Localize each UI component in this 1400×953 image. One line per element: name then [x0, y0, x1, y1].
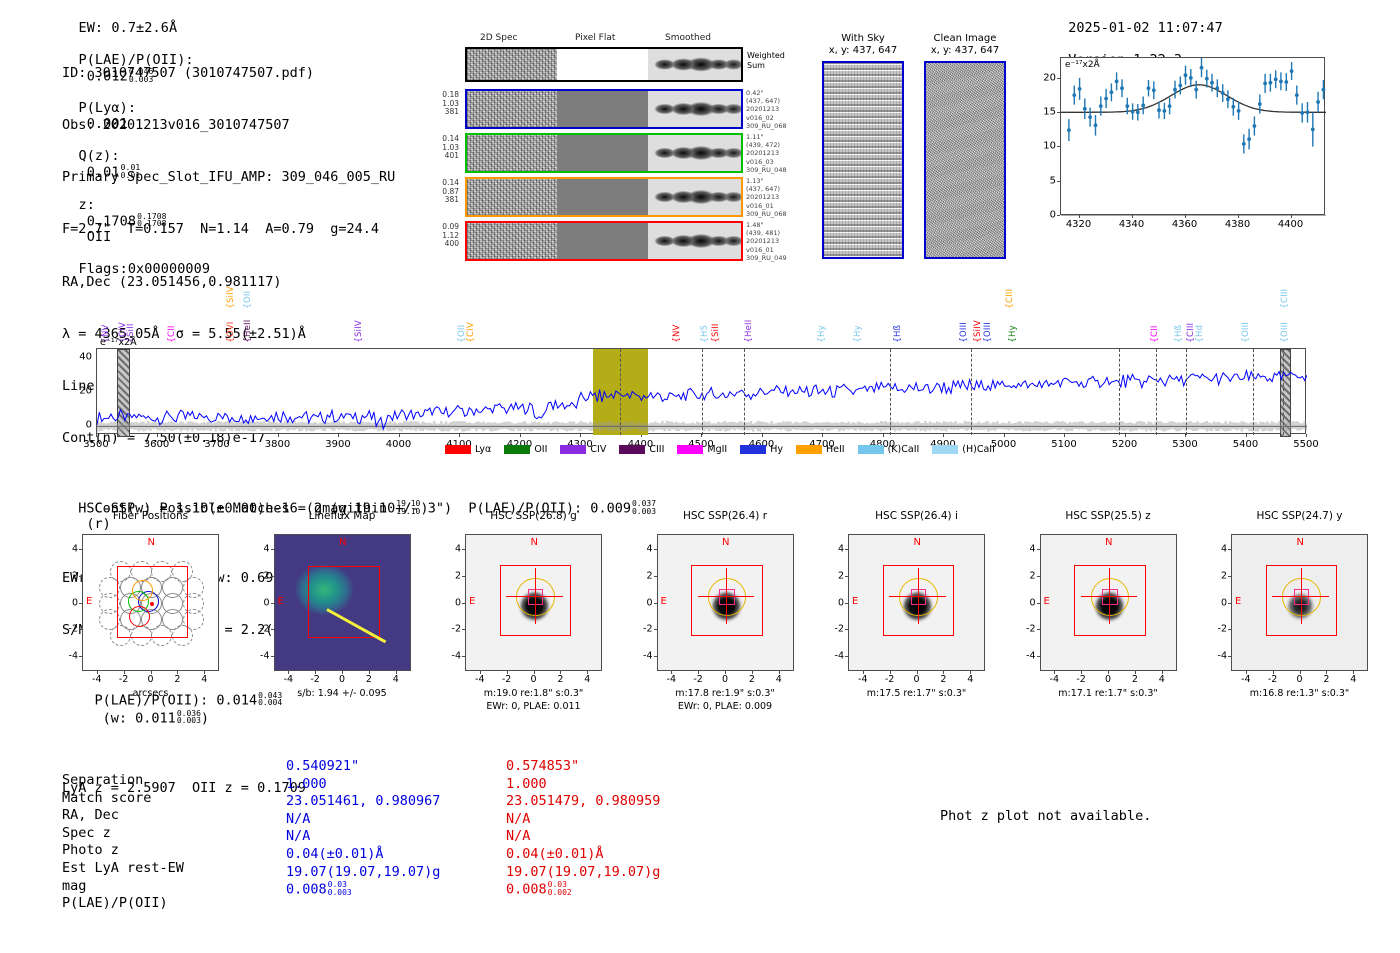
match-table-value-red: N/A	[506, 828, 530, 846]
cutout-xtickmark	[1135, 671, 1136, 674]
match-table-value-blue: N/A	[286, 811, 310, 829]
cutout-xtick: -2	[119, 674, 128, 685]
spectrum-line-label: CIV	[466, 293, 476, 337]
info-primary-spec: Primary Spec_Slot_IFU_AMP: 309_046_005_R…	[62, 169, 428, 186]
photz-note: Phot z plot not available.	[940, 808, 1151, 824]
spectrum-line-marker-dash	[1283, 349, 1284, 435]
spec2d-title-smoothed: Smoothed	[665, 33, 711, 43]
spectrum-line-label: SiIV	[354, 293, 364, 337]
info-id: ID: 3010747507 (3010747507.pdf)	[62, 65, 428, 82]
spectrum-line-label: SiIV	[226, 259, 236, 303]
spectrum-line-marker-dash	[1186, 349, 1187, 435]
cutout-xtickmark	[369, 671, 370, 674]
cutout-ytickmark	[462, 549, 465, 550]
legend-entry: HeII	[796, 444, 845, 455]
spectrum-line-marker-dash	[702, 349, 703, 435]
full-spectrum-axes: e⁻¹⁷x2Å	[96, 348, 1306, 434]
match-table-label: Est LyA rest-EW	[62, 860, 184, 878]
legend-label: OII	[534, 444, 547, 455]
cutout-ytickmark	[271, 576, 274, 577]
spectrum-line-brace: {	[1174, 337, 1184, 343]
spectrum-line-label: OIII	[1241, 293, 1251, 337]
cutout-xtick: -2	[1268, 674, 1277, 685]
line-fit-ytickmark	[1057, 146, 1060, 147]
spectrum-line-label: CII	[167, 293, 177, 337]
cutout-axes: NE	[1231, 534, 1368, 671]
cutout-xtick: 0	[913, 674, 919, 685]
cutout-ytickmark	[271, 603, 274, 604]
spectrum-line-brace: {	[1008, 337, 1018, 343]
info-fwhm: F=2.7" T=0.157 N=1.14 A=0.79 g=24.4	[62, 221, 428, 238]
cutout-ytickmark	[79, 656, 82, 657]
spectrum-ytick: 0	[70, 420, 92, 431]
spectrum-line-label: CIII	[1280, 259, 1290, 303]
cutout-xtickmark	[1353, 671, 1354, 674]
spec2d-image-2dspec	[467, 179, 557, 215]
spec2d-image-2dspec	[467, 91, 557, 127]
cutout-ytickmark	[654, 576, 657, 577]
cutout-axes: NE	[82, 534, 219, 671]
cutout-ytickmark	[845, 549, 848, 550]
cutout-ytick: 4	[1207, 543, 1227, 554]
cutout-red-box	[308, 566, 380, 638]
cutout-xtick: 4	[393, 674, 399, 685]
match-table-value-red: 0.04(±0.01)Å	[506, 846, 604, 864]
cutout-ytick: 4	[1016, 543, 1036, 554]
legend-swatch	[932, 445, 958, 454]
match-table-label: Spec z	[62, 825, 111, 843]
spectrum-line-marker-dash	[971, 349, 972, 435]
legend-label: Lyα	[475, 444, 491, 455]
legend-entry: Lyα	[445, 444, 491, 455]
legend-label: CIII	[649, 444, 664, 455]
cutout-ytick: 2	[1016, 570, 1036, 581]
spectrum-line-label: CII	[1150, 293, 1160, 337]
cutout-xtickmark	[97, 671, 98, 674]
spectrum-line-brace: {	[817, 337, 827, 343]
match-table-label: Photo z	[62, 842, 119, 860]
cutout-title: HSC SSP(26.8) g	[445, 510, 622, 522]
cutout-title: HSC SSP(26.4) i	[828, 510, 1005, 522]
cutout-crosshair-v	[535, 568, 536, 624]
cutout-xtickmark	[480, 671, 481, 674]
legend-swatch	[740, 445, 766, 454]
cutout-xtickmark	[1300, 671, 1301, 674]
cutout-xtickmark	[204, 671, 205, 674]
cutout-xtick: 2	[1323, 674, 1329, 685]
spec2d-row-left-labels: 0.141.03401	[433, 135, 459, 161]
spectrum-line-brace: {	[744, 337, 754, 343]
cutout-ytick: -2	[824, 624, 844, 635]
spec2d-row-right-labels: 1.13"(437, 647)20201213v016_01309_RU_068	[746, 177, 806, 218]
info-plae-w-dn: 0.003	[177, 717, 201, 725]
cutout-ytick: -4	[250, 651, 270, 662]
cutout-ytickmark	[654, 603, 657, 604]
cutout-ytickmark	[1037, 549, 1040, 550]
line-fit-ytickmark	[1057, 215, 1060, 216]
match-table-value-blue: N/A	[286, 828, 310, 846]
cutout-ytickmark	[1228, 629, 1231, 630]
legend-swatch	[619, 445, 645, 454]
cutout-xtickmark	[1273, 671, 1274, 674]
cutout-ytickmark	[1228, 549, 1231, 550]
info-plae: P(LAE)/P(OII): 0.0140.0430.004 (w: 0.011…	[62, 674, 428, 744]
match-table-label: RA, Dec	[62, 807, 119, 825]
spec2d-fiber-row	[465, 177, 743, 217]
cutout-ytickmark	[271, 656, 274, 657]
cutout-compass-east: E	[1044, 596, 1050, 607]
cutout-ytickmark	[654, 629, 657, 630]
cutout-xtickmark	[288, 671, 289, 674]
info-plae-mid: (w: 0.011	[103, 710, 176, 726]
cutout-ytickmark	[271, 549, 274, 550]
spectrum-line-brace: {	[1241, 337, 1251, 343]
line-fit-xtick: 4400	[1278, 219, 1303, 230]
cutout-xtickmark	[124, 671, 125, 674]
cutout-xtickmark	[507, 671, 508, 674]
spec2d-weighted-sum-label: WeightedSum	[747, 51, 785, 71]
info-plae-post: )	[201, 710, 209, 726]
spectrum-ytick: 40	[70, 351, 92, 362]
cutout-ytick: 2	[633, 570, 653, 581]
spectrum-line-brace: {	[1195, 337, 1205, 343]
cutout-compass-north: N	[722, 537, 729, 548]
match-table-label: Separation	[62, 772, 143, 790]
cutout-ytick: 4	[58, 543, 78, 554]
cutout-ytick: -4	[1207, 651, 1227, 662]
spec2d-title-pixelflat: Pixel Flat	[575, 33, 615, 43]
cutout-ytickmark	[462, 603, 465, 604]
cutout-xtick: 4	[776, 674, 782, 685]
cutout-crosshair-v	[918, 568, 919, 624]
cutout-ytickmark	[1037, 629, 1040, 630]
cutout-xtickmark	[342, 671, 343, 674]
with-sky-image	[822, 61, 904, 259]
legend-entry: MgII	[677, 444, 727, 455]
cutout-ytick: 2	[824, 570, 844, 581]
cutout-compass-north: N	[531, 537, 538, 548]
cutout-ytickmark	[462, 629, 465, 630]
cutout-xtickmark	[671, 671, 672, 674]
spec2d-row-right-labels: 1.11"(439, 472)20201213v016_03309_RU_048	[746, 133, 806, 174]
match-table-value-red: 19.07(19.07,19.07)g	[506, 864, 660, 882]
cutout-ytickmark	[1037, 603, 1040, 604]
spectrum-line-label: Hy	[853, 293, 863, 337]
cutout-ytickmark	[1228, 603, 1231, 604]
spec2d-image-pixelflat	[557, 135, 647, 171]
spectrum-ytick: 20	[70, 386, 92, 397]
legend-label: CIV	[590, 444, 606, 455]
spectrum-xtick: 5200	[1112, 439, 1137, 450]
cutout-compass-east: E	[278, 596, 284, 607]
cutout-xtick: 2	[1132, 674, 1138, 685]
match-table-label: Match score	[62, 790, 151, 808]
match-table-label: mag	[62, 878, 86, 896]
cutout-xtick: -4	[284, 674, 293, 685]
line-fit-ytick: 10	[1036, 141, 1056, 152]
spectrum-xtick: 3700	[204, 439, 229, 450]
spec2d-weighted-sum-row	[465, 47, 743, 82]
match-table-value-red: 0.574853"	[506, 758, 579, 776]
spectrum-emission-center-dash	[620, 349, 621, 435]
cutout-axes: NE	[465, 534, 602, 671]
cutout-compass-east: E	[661, 596, 667, 607]
cutout-sublabel-1: m:17.1 re:1.7" s:0.3"	[1020, 688, 1197, 700]
spec2d-row-right-labels: 0.42"(437, 647)20201213v016_02309_RU_068	[746, 89, 806, 130]
spectrum-line-brace: {	[243, 303, 253, 309]
match-table-value-blue: 19.07(19.07,19.07)g	[286, 864, 440, 882]
spectrum-line-brace: {	[1150, 337, 1160, 343]
cutout-xtick: 2	[940, 674, 946, 685]
line-fit-ytickmark	[1057, 181, 1060, 182]
spec2d-image-2dspec-ws	[467, 49, 557, 80]
info-plae-dn: 0.004	[258, 699, 282, 707]
cutout-sublabel-2: EWr: 0, PLAE: 0.011	[445, 701, 622, 713]
spectrum-xtick: 5300	[1172, 439, 1197, 450]
cutout-xtick: -2	[502, 674, 511, 685]
cutout-title: HSC SSP(25.5) z	[1020, 510, 1197, 522]
cutout-xtickmark	[890, 671, 891, 674]
cutout-xtick: -4	[1050, 674, 1059, 685]
match-table-value-blue: 1.000	[286, 776, 327, 794]
cutout-xtick: 2	[366, 674, 372, 685]
spectrum-line-brace: {	[700, 337, 710, 343]
cutout-crosshair-v	[726, 568, 727, 624]
spectrum-line-brace: {	[243, 337, 253, 343]
spectrum-line-label: Hd	[1195, 293, 1205, 337]
cutout-sublabel-1: m:16.8 re:1.3" s:0.3"	[1211, 688, 1388, 700]
spectrum-xtick: 3900	[325, 439, 350, 450]
spectrum-line-brace: {	[1005, 303, 1015, 309]
cutout-ytick: -4	[633, 651, 653, 662]
cutout-xtick: 4	[1350, 674, 1356, 685]
cutout-xtickmark	[970, 671, 971, 674]
cutout-sublabel-1: m:17.8 re:1.9" s:0.3"	[637, 688, 814, 700]
spectrum-xtick: 5400	[1233, 439, 1258, 450]
cutout-ytick: 0	[1016, 597, 1036, 608]
cutout-ytickmark	[845, 629, 848, 630]
spec2d-image-smoothed	[648, 91, 741, 127]
spectrum-xtick: 3600	[144, 439, 169, 450]
legend-swatch	[677, 445, 703, 454]
cutout-xtick: -4	[667, 674, 676, 685]
line-fit-ytick: 20	[1036, 72, 1056, 83]
cutout-xtickmark	[315, 671, 316, 674]
cutout-compass-east: E	[469, 596, 475, 607]
cutout-center-marker	[150, 602, 154, 606]
spectrum-xtick: 5100	[1051, 439, 1076, 450]
cutout-ytick: -4	[58, 651, 78, 662]
cutout-title: HSC SSP(26.4) r	[637, 510, 814, 522]
spectrum-line-label: SiIV	[973, 293, 983, 337]
spectrum-line-brace: {	[959, 337, 969, 343]
cutout-title: Lineflux Map	[254, 510, 431, 522]
spectrum-xtick: 3800	[265, 439, 290, 450]
line-fit-xtickmark	[1079, 215, 1080, 218]
spectrum-line-marker-dash	[1119, 349, 1120, 435]
line-fit-xtickmark	[1291, 215, 1292, 218]
cutout-xtick: 4	[201, 674, 207, 685]
cutout-ytick: 2	[250, 570, 270, 581]
cutout-ytick: 4	[250, 543, 270, 554]
spectrum-line-brace: {	[466, 337, 476, 343]
spectrum-line-brace: {	[1280, 337, 1290, 343]
spectrum-xtick: 3500	[83, 439, 108, 450]
line-fit-ytick: 5	[1036, 175, 1056, 186]
spectrum-line-brace: {	[853, 337, 863, 343]
line-fit-ytick: 15	[1036, 106, 1056, 117]
cutout-xtick: 0	[339, 674, 345, 685]
match-table-value-blue: 23.051461, 0.980967	[286, 793, 440, 811]
line-fit-ytickmark	[1057, 112, 1060, 113]
cutout-axes: NE	[657, 534, 794, 671]
cutout-xtickmark	[1081, 671, 1082, 674]
cutout-ytickmark	[79, 576, 82, 577]
cutout-xtick: -2	[1076, 674, 1085, 685]
info-obs: Obs: 20201213v016_3010747507	[62, 117, 428, 134]
spectrum-line-label: OIII	[983, 293, 993, 337]
cutout-ytickmark	[1037, 656, 1040, 657]
cutout-xtickmark	[151, 671, 152, 674]
spec2d-fiber-row	[465, 133, 743, 173]
spectrum-line-brace: {	[167, 337, 177, 343]
cutout-xtickmark	[560, 671, 561, 674]
line-fit-xtickmark	[1132, 215, 1133, 218]
spectrum-line-label: CIII	[1005, 259, 1015, 303]
cutout-xtick: -4	[1241, 674, 1250, 685]
line-fit-xtick: 4360	[1172, 219, 1197, 230]
cutout-sublabel-1: s/b: 1.94 +/- 0.095	[254, 688, 431, 700]
cutout-title: Fiber Positions	[62, 510, 239, 522]
cutout-ytick: 0	[58, 597, 78, 608]
spec2d-image-smoothed	[648, 135, 741, 171]
match-table-value-red: 1.000	[506, 776, 547, 794]
cutout-xtickmark	[1246, 671, 1247, 674]
spec2d-fiber-row	[465, 221, 743, 261]
cutout-ytickmark	[1037, 576, 1040, 577]
cutout-ytick: 4	[441, 543, 461, 554]
line-fit-ytick: 0	[1036, 210, 1056, 221]
spectrum-legend: LyαOIICIVCIIIMgIIHyHeII(K)CaII(H)CaII	[445, 444, 995, 455]
cutout-ytickmark	[79, 549, 82, 550]
cutout-crosshair-v	[1301, 568, 1302, 624]
cutout-ytick: -2	[633, 624, 653, 635]
cutout-xtick: 2	[174, 674, 180, 685]
spectrum-line-marker-dash	[890, 349, 891, 435]
cutout-ytick: -2	[441, 624, 461, 635]
cutout-xtick: 0	[722, 674, 728, 685]
legend-swatch	[445, 445, 471, 454]
cutout-xtickmark	[587, 671, 588, 674]
cutout-xtick: -2	[885, 674, 894, 685]
spectrum-line-label: HeII	[744, 293, 754, 337]
cutout-ytickmark	[654, 656, 657, 657]
cutout-compass-north: N	[914, 537, 921, 548]
cutout-ytickmark	[79, 629, 82, 630]
spectrum-line-label: OIII	[959, 293, 969, 337]
spectrum-line-brace: {	[711, 337, 721, 343]
spectrum-line-label: Hß	[893, 293, 903, 337]
spec2d-image-pixelflat-ws	[557, 49, 647, 80]
spectrum-line-label: NV	[672, 293, 682, 337]
cutout-ytick: 0	[633, 597, 653, 608]
cutout-ytick: 4	[824, 543, 844, 554]
cutout-xtick: -4	[858, 674, 867, 685]
cutout-ytickmark	[271, 629, 274, 630]
cutout-xtickmark	[863, 671, 864, 674]
cutout-xtickmark	[943, 671, 944, 674]
cutout-axes: NE	[274, 534, 411, 671]
spec2d-panel: 2D Spec Pixel Flat Smoothed WeightedSum …	[455, 33, 805, 258]
cutout-ytickmark	[462, 576, 465, 577]
cutout-sublabel-1: m:19.0 re:1.8" s:0.3"	[445, 688, 622, 700]
cutout-xtick: 2	[749, 674, 755, 685]
cutout-xtickmark	[177, 671, 178, 674]
spec2d-row-left-labels: 0.091.12400	[433, 223, 459, 249]
legend-entry: OII	[504, 444, 547, 455]
cutout-xtick: -2	[310, 674, 319, 685]
legend-entry: CIII	[619, 444, 664, 455]
cutout-xtick: 4	[967, 674, 973, 685]
cutout-xtickmark	[917, 671, 918, 674]
match-table-label: P(LAE)/P(OII)	[62, 895, 168, 913]
cutout-xtick: 0	[1296, 674, 1302, 685]
cutout-ytick: 2	[1207, 570, 1227, 581]
cutout-compass-north: N	[1297, 537, 1304, 548]
cutout-xtickmark	[1108, 671, 1109, 674]
timestamp: 2025-01-02 11:07:47	[1068, 20, 1222, 36]
clean-image-image	[924, 61, 1006, 259]
cutout-ytick: 0	[824, 597, 844, 608]
cutout-xtick: 2	[557, 674, 563, 685]
cutout-crosshair-v	[1109, 568, 1110, 624]
cutout-xtickmark	[725, 671, 726, 674]
cutout-xtickmark	[752, 671, 753, 674]
line-fit-ytickmark	[1057, 78, 1060, 79]
legend-label: HeII	[826, 444, 845, 455]
spec2d-row-left-labels: 0.140.87381	[433, 179, 459, 205]
match-table-value-blue: 0.0080.030.003	[286, 881, 352, 899]
cutout-axes: NE	[848, 534, 985, 671]
cutout-xtick: 0	[530, 674, 536, 685]
full-spectrum-annotation: e⁻¹⁷x2Å	[100, 337, 137, 348]
cutout-ytick: 0	[441, 597, 461, 608]
spectrum-line-label: Hy	[817, 293, 827, 337]
legend-entry: CIV	[560, 444, 606, 455]
spec2d-image-pixelflat	[557, 179, 647, 215]
clean-image-title: Clean Image	[920, 33, 1010, 45]
spectrum-line-marker-dash	[744, 349, 745, 435]
cutout-title: HSC SSP(24.7) y	[1211, 510, 1388, 522]
line-fit-axes: e⁻¹⁷x2Å	[1060, 57, 1325, 215]
spec2d-image-2dspec	[467, 223, 557, 259]
with-sky-title: With Sky	[818, 33, 908, 45]
spectrum-line-brace: {	[1280, 303, 1290, 309]
spectrum-line-label: Hß	[1174, 293, 1184, 337]
spectrum-line-label: SiII	[711, 293, 721, 337]
cutout-compass-north: N	[1105, 537, 1112, 548]
cutout-xtick: 4	[584, 674, 590, 685]
cutout-xtick: -2	[693, 674, 702, 685]
legend-label: Hy	[770, 444, 783, 455]
cutout-xtick: -4	[475, 674, 484, 685]
spec2d-image-smoothed	[648, 223, 741, 259]
cutout-ytick: -4	[824, 651, 844, 662]
spec2d-fiber-row	[465, 89, 743, 129]
cutout-ytickmark	[845, 656, 848, 657]
legend-swatch	[504, 445, 530, 454]
cutout-xtick: 0	[147, 674, 153, 685]
